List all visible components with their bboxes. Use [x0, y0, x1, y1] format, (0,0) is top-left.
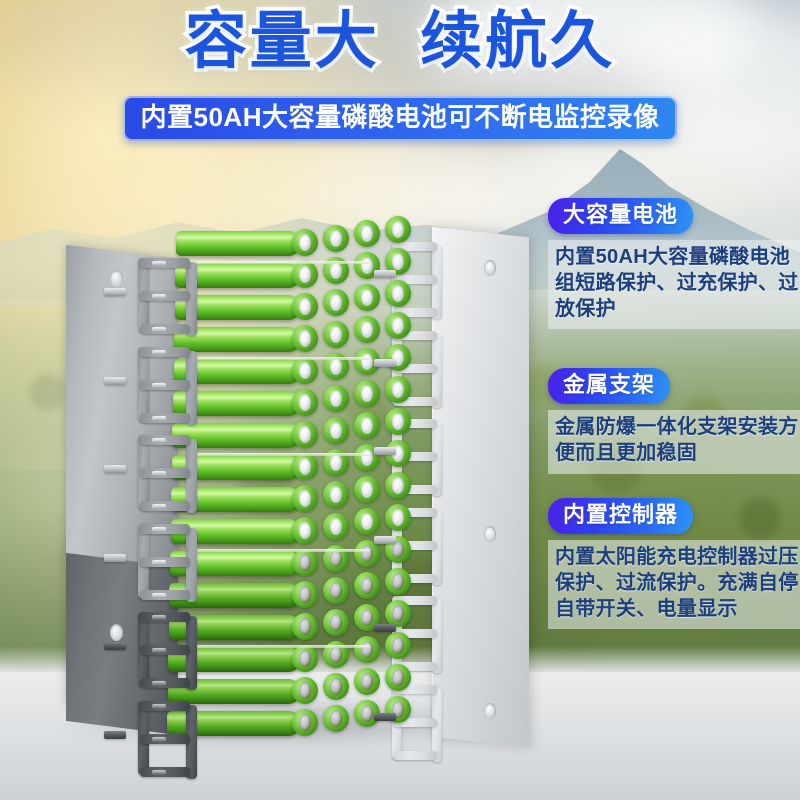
product-shadow — [60, 700, 500, 746]
feature-badge: 大容量电池 — [548, 198, 693, 234]
feature-callout-controller: 内置控制器 内置太阳能充电控制器过压保护、过流保护。充满自停自带开关、电量显示 — [548, 498, 800, 629]
feature-callout-capacity: 大容量电池 内置50AH大容量磷酸电池组短路保护、过充保护、过放保护 — [548, 198, 800, 329]
feature-body: 金属防爆一体化支架安装方便而且更加稳固 — [548, 410, 800, 473]
product-banner: 容量大 续航久 内置50AH大容量磷酸电池可不断电监控录像 大容量电池 内置50… — [0, 0, 800, 800]
feature-callout-bracket: 金属支架 金属防爆一体化支架安装方便而且更加稳固 — [548, 368, 800, 474]
headline: 容量大 续航久 — [0, 8, 800, 76]
subtitle-banner: 内置50AH大容量磷酸电池可不断电监控录像 — [0, 96, 800, 141]
subtitle-pill: 内置50AH大容量磷酸电池可不断电监控录像 — [123, 96, 678, 141]
feature-body: 内置50AH大容量磷酸电池组短路保护、过充保护、过放保护 — [548, 240, 800, 329]
feature-badge: 金属支架 — [548, 368, 670, 404]
feature-body: 内置太阳能充电控制器过压保护、过流保护。充满自停自带开关、电量显示 — [548, 540, 800, 629]
feature-badge: 内置控制器 — [548, 498, 693, 534]
headline-text: 容量大 续航久 — [185, 8, 615, 76]
